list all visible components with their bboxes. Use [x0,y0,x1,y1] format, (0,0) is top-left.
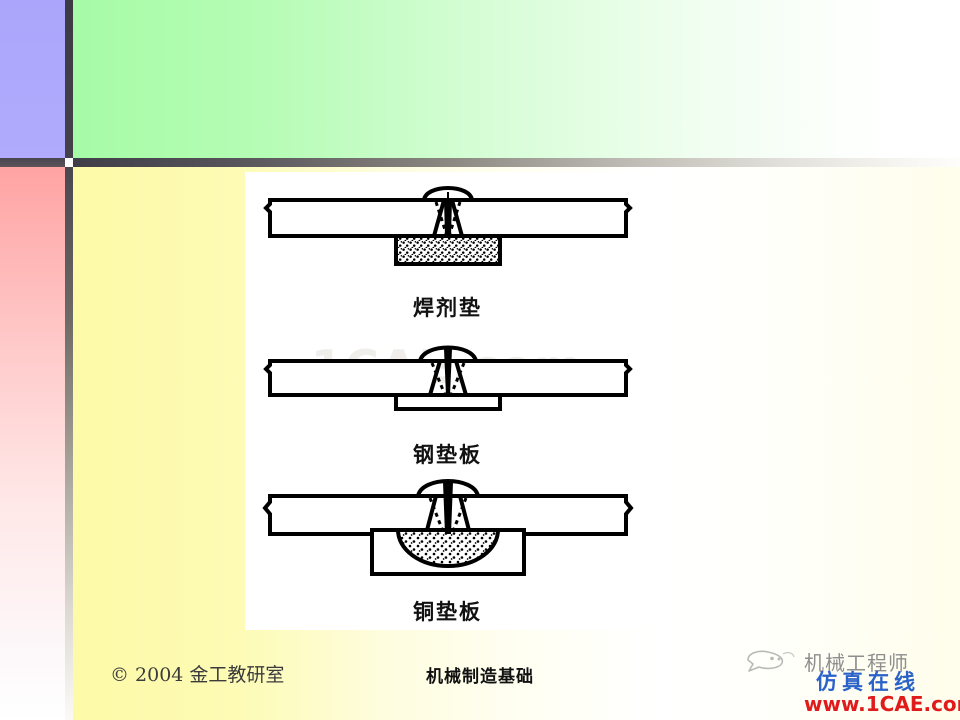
flux-backing-diagram: 焊剂垫 [245,178,650,322]
copper-backing-drawing [248,472,648,594]
vertical-divider-top [65,0,73,158]
steel-backing-drawing [248,337,648,437]
slide-header [73,0,960,158]
whale-doodle-icon [742,646,798,676]
vertical-divider-bottom [65,167,73,720]
copper-backing-diagram: 铜垫板 [245,472,650,626]
watermark-url: www.1CAE.com [804,692,960,716]
rail-purple-block [0,0,65,158]
figure-caption: 铜垫板 [245,596,650,626]
figure-caption: 焊剂垫 [245,292,650,322]
header-separator-rule [73,158,960,167]
site-watermark: 机械工程师 仿真在线 www.1CAE.com [742,642,954,716]
figure-panel: 1CAE.com [245,172,650,630]
slide: 防止烧穿 - 焊剂垫、垫板 1CAE.com [0,0,960,720]
rail-pink-gradient [0,167,65,720]
rail-divider-block [0,158,65,167]
left-decor-rail [0,0,65,720]
figure-caption: 钢垫板 [245,439,650,469]
steel-backing-diagram: 钢垫板 [245,337,650,469]
flux-backing-drawing [248,178,648,290]
